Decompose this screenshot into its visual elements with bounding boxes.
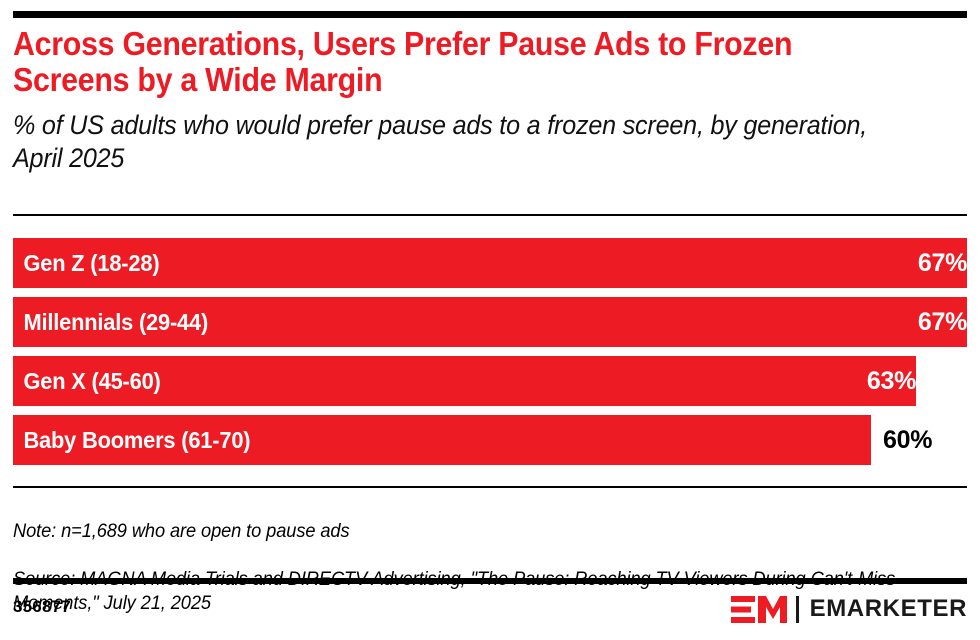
bar-value-label: 67% bbox=[13, 297, 979, 347]
emarketer-logo: EMARKETER bbox=[731, 594, 967, 624]
bar-row: Gen Z (18-28) 67% bbox=[13, 238, 967, 288]
note-text: Note: n=1,689 who are open to pause ads bbox=[13, 520, 929, 544]
bar-row: Gen X (45-60) 63% bbox=[13, 356, 967, 406]
chart-card: Across Generations, Users Prefer Pause A… bbox=[0, 0, 980, 634]
notes-rule bbox=[13, 486, 967, 488]
subtitle-rule bbox=[13, 214, 967, 216]
bar-value-label: 67% bbox=[13, 238, 979, 288]
bar-category-label: Baby Boomers (61-70) bbox=[13, 427, 250, 454]
chart-header: Across Generations, Users Prefer Pause A… bbox=[13, 26, 967, 175]
bar-value-label: 63% bbox=[13, 356, 928, 406]
bar-chart-plot: Gen Z (18-28) 67% Millennials (29-44) 67… bbox=[13, 238, 967, 478]
bar-baby-boomers: Baby Boomers (61-70) bbox=[13, 415, 871, 465]
logo-divider bbox=[796, 596, 799, 623]
bar-row: Baby Boomers (61-70) 60% bbox=[13, 415, 967, 465]
em-monogram-icon bbox=[731, 596, 787, 623]
chart-title: Across Generations, Users Prefer Pause A… bbox=[13, 26, 891, 98]
chart-id: 356877 bbox=[13, 597, 71, 617]
footer-rule bbox=[13, 578, 967, 584]
brand-name: EMARKETER bbox=[810, 597, 967, 621]
bar-row: Millennials (29-44) 67% bbox=[13, 297, 967, 347]
bar-value-label: 60% bbox=[871, 415, 932, 465]
chart-subtitle: % of US adults who would prefer pause ad… bbox=[13, 98, 900, 175]
top-rule bbox=[13, 11, 967, 18]
